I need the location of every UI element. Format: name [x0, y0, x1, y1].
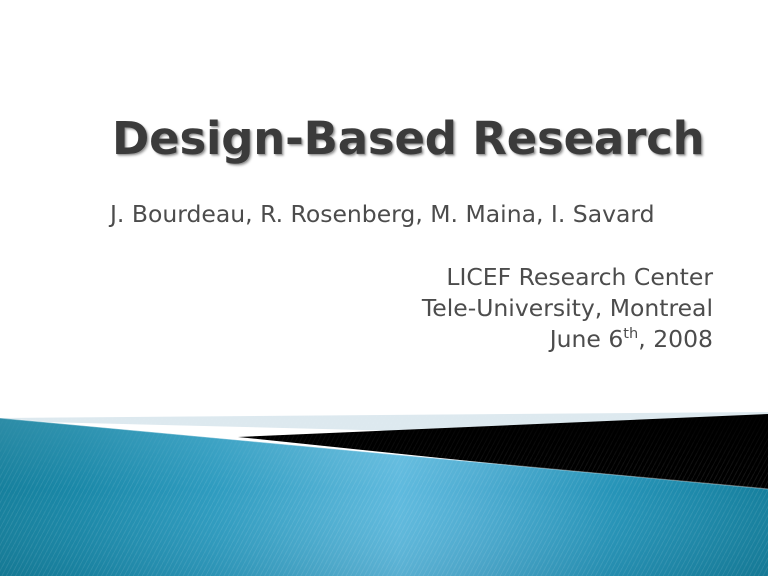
- banner-black-wedge: [238, 414, 768, 492]
- author-list: J. Bourdeau, R. Rosenberg, M. Maina, I. …: [110, 200, 722, 228]
- affiliation-block: LICEF Research Center Tele-University, M…: [112, 262, 713, 355]
- slide-title: Design-Based Research: [112, 116, 722, 163]
- slide-text-layer: Design-Based Research J. Bourdeau, R. Ro…: [0, 0, 768, 420]
- date-year: , 2008: [638, 325, 713, 353]
- presentation-slide: Design-Based Research J. Bourdeau, R. Ro…: [0, 0, 768, 576]
- date-ordinal-suffix: th: [623, 325, 638, 342]
- affiliation-institution: Tele-University, Montreal: [112, 293, 713, 324]
- banner-teal-edge-highlight: [0, 418, 768, 489]
- banner-texture-overlay: [0, 405, 768, 576]
- banner-teal-shading: [0, 418, 768, 576]
- affiliation-date: June 6th, 2008: [112, 324, 713, 355]
- banner-teal-wedge: [0, 418, 768, 576]
- date-month-day: June 6: [550, 325, 624, 353]
- affiliation-organization: LICEF Research Center: [112, 262, 713, 293]
